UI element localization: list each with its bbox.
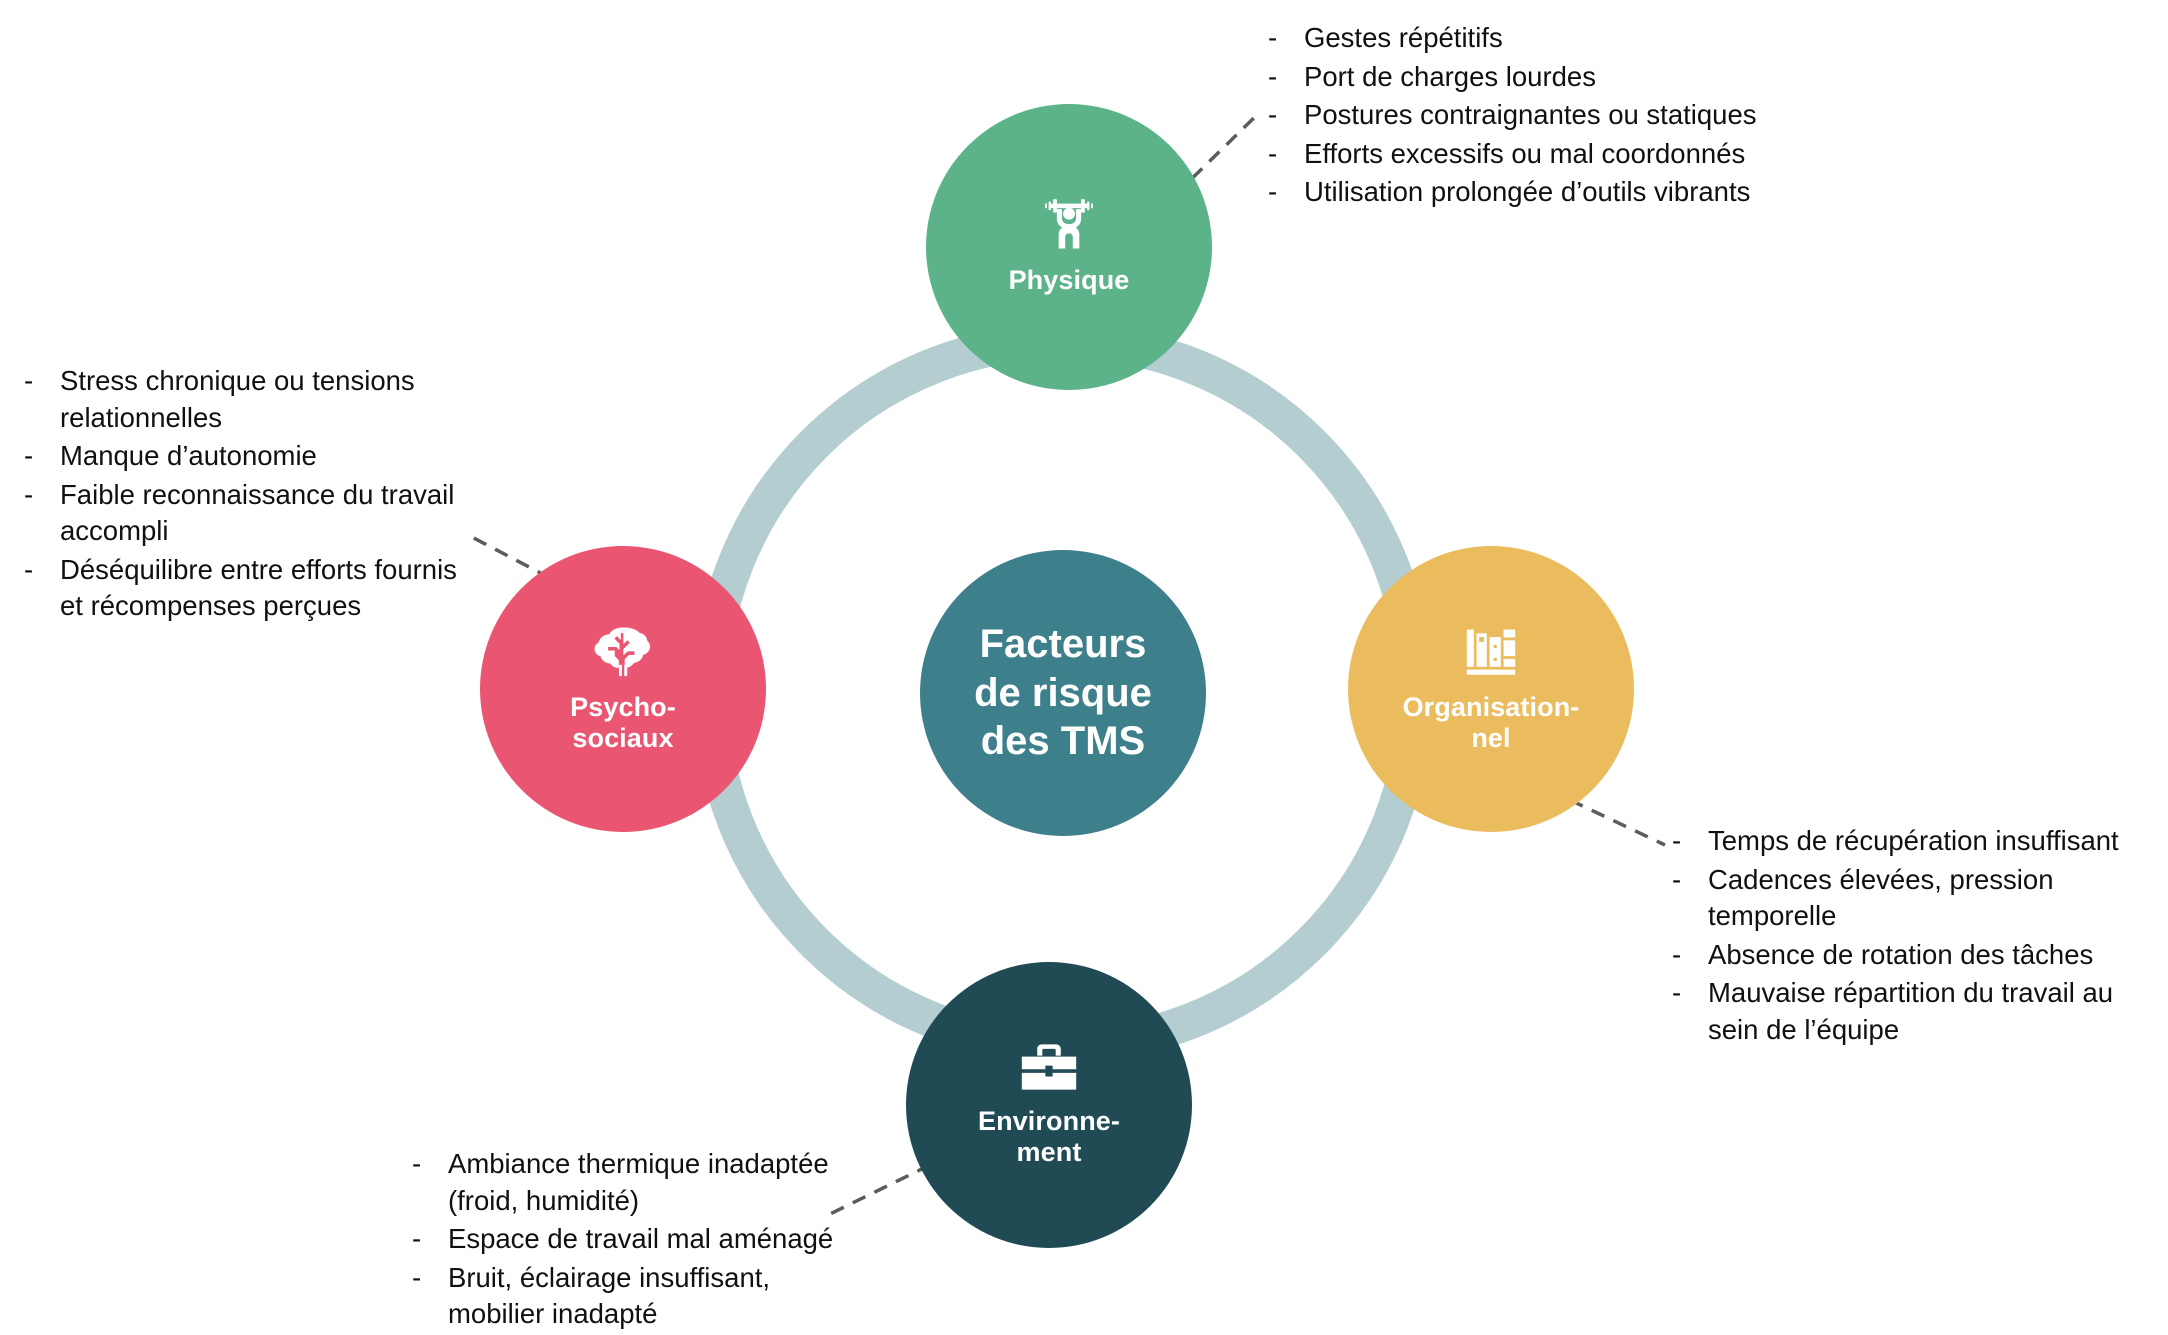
list-item-text: Espace de travail mal aménagé [448, 1221, 892, 1258]
node-organisationnel-label: Organisation- nel [1403, 692, 1580, 755]
list-item-text: Cadences élevées, pression temporelle [1708, 862, 2152, 935]
list-item-text: Faible reconnaissance du travail accompl… [60, 477, 504, 550]
list-item: - Manque d’autonomie [24, 438, 504, 475]
list-item-text: Utilisation prolongée d’outils vibrants [1304, 174, 1868, 211]
node-psychosociaux[interactable]: Psycho- sociaux [480, 546, 766, 832]
list-item-text: Absence de rotation des tâches [1708, 937, 2152, 974]
list-item-text: Postures contraignantes ou statiques [1304, 97, 1868, 134]
list-item: - Utilisation prolongée d’outils vibrant… [1268, 174, 1868, 211]
callout-environnement-list: - Ambiance thermique inadaptée (froid, h… [412, 1146, 892, 1333]
hub-title: Facteurs de risque des TMS [974, 620, 1152, 766]
list-item-text: Mauvaise répartition du travail au sein … [1708, 975, 2152, 1048]
bullet-dash: - [1268, 59, 1304, 96]
node-psychosociaux-label: Psycho- sociaux [570, 692, 676, 755]
bullet-dash: - [412, 1260, 448, 1297]
bullet-dash: - [24, 552, 60, 589]
list-item-text: Temps de récupération insuffisant [1708, 823, 2152, 860]
bullet-dash: - [1268, 136, 1304, 173]
bullet-dash: - [1268, 174, 1304, 211]
bullet-dash: - [24, 477, 60, 514]
list-item: - Gestes répétitifs [1268, 20, 1868, 57]
books-shelf-icon [1463, 624, 1519, 678]
list-item-text: Ambiance thermique inadaptée (froid, hum… [448, 1146, 892, 1219]
list-item: - Ambiance thermique inadaptée (froid, h… [412, 1146, 892, 1219]
callout-organisationnel-list: - Temps de récupération insuffisant - Ca… [1672, 823, 2152, 1048]
node-environnement[interactable]: Environne- ment [906, 962, 1192, 1248]
bullet-dash: - [1268, 97, 1304, 134]
list-item-text: Gestes répétitifs [1304, 20, 1868, 57]
brain-icon [593, 624, 653, 678]
bullet-dash: - [1672, 937, 1708, 974]
list-item: - Port de charges lourdes [1268, 59, 1868, 96]
list-item-text: Bruit, éclairage insuffisant, mobilier i… [448, 1260, 892, 1333]
bullet-dash: - [24, 438, 60, 475]
bullet-dash: - [24, 363, 60, 400]
weightlifter-icon [1040, 197, 1098, 251]
node-organisationnel[interactable]: Organisation- nel [1348, 546, 1634, 832]
callout-organisationnel: - Temps de récupération insuffisant - Ca… [1672, 823, 2152, 1050]
list-item: - Bruit, éclairage insuffisant, mobilier… [412, 1260, 892, 1333]
list-item: - Absence de rotation des tâches [1672, 937, 2152, 974]
callout-psychosociaux-list: - Stress chronique ou tensions relationn… [24, 363, 504, 625]
list-item: - Postures contraignantes ou statiques [1268, 97, 1868, 134]
list-item: - Temps de récupération insuffisant [1672, 823, 2152, 860]
callout-physique: - Gestes répétitifs - Port de charges lo… [1268, 20, 1868, 213]
callout-psychosociaux: - Stress chronique ou tensions relationn… [24, 363, 504, 627]
briefcase-icon [1020, 1042, 1078, 1092]
bullet-dash: - [1672, 823, 1708, 860]
callout-environnement: - Ambiance thermique inadaptée (froid, h… [412, 1146, 892, 1335]
list-item: - Mauvaise répartition du travail au sei… [1672, 975, 2152, 1048]
list-item-text: Stress chronique ou tensions relationnel… [60, 363, 504, 436]
list-item-text: Efforts excessifs ou mal coordonnés [1304, 136, 1868, 173]
list-item: - Efforts excessifs ou mal coordonnés [1268, 136, 1868, 173]
list-item-text: Port de charges lourdes [1304, 59, 1868, 96]
list-item: - Déséquilibre entre efforts fournis et … [24, 552, 504, 625]
bullet-dash: - [412, 1221, 448, 1258]
node-physique-label: Physique [1009, 265, 1130, 296]
bullet-dash: - [1672, 862, 1708, 899]
leader-line-organisationnel [1570, 800, 1665, 845]
node-physique[interactable]: Physique [926, 104, 1212, 390]
list-item-text: Manque d’autonomie [60, 438, 504, 475]
node-environnement-label: Environne- ment [978, 1106, 1120, 1169]
bullet-dash: - [1672, 975, 1708, 1012]
list-item: - Espace de travail mal aménagé [412, 1221, 892, 1258]
list-item-text: Déséquilibre entre efforts fournis et ré… [60, 552, 504, 625]
bullet-dash: - [412, 1146, 448, 1183]
list-item: - Stress chronique ou tensions relationn… [24, 363, 504, 436]
bullet-dash: - [1268, 20, 1304, 57]
hub-circle[interactable]: Facteurs de risque des TMS [920, 550, 1206, 836]
list-item: - Faible reconnaissance du travail accom… [24, 477, 504, 550]
callout-physique-list: - Gestes répétitifs - Port de charges lo… [1268, 20, 1868, 211]
list-item: - Cadences élevées, pression temporelle [1672, 862, 2152, 935]
